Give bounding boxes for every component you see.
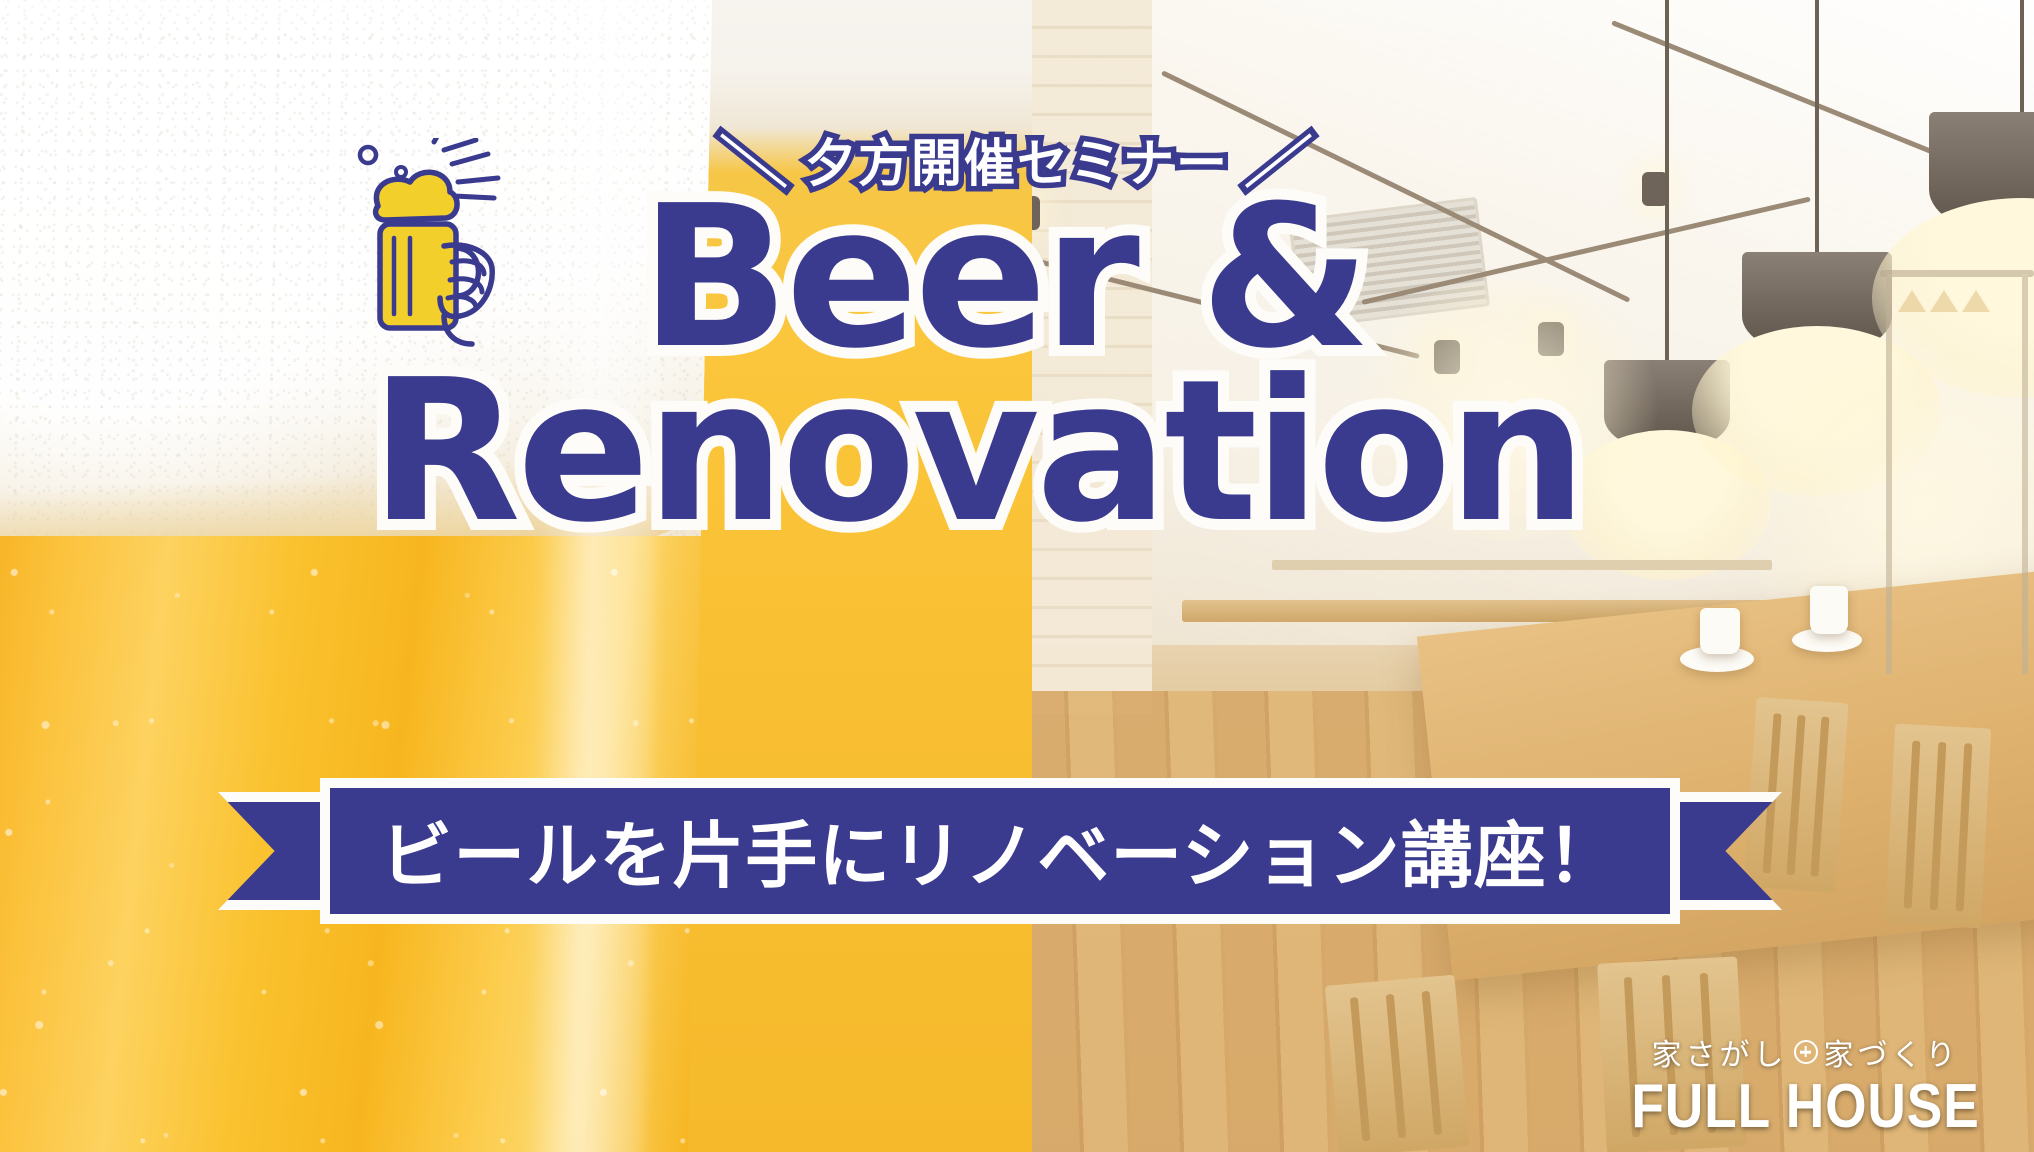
chair-slat xyxy=(1422,991,1443,1136)
spotlight xyxy=(1032,196,1040,230)
renovated-interior-photo xyxy=(1032,0,2034,1152)
chair-slat xyxy=(1810,717,1829,877)
coffee-cup xyxy=(1810,586,1848,634)
logo-brand: FULL HOUSE xyxy=(1631,1076,1979,1138)
lamp-cord xyxy=(1815,0,1819,270)
lamp-cord xyxy=(1665,0,1669,380)
ribbon-text: ビールを片手にリノベーション講座！ xyxy=(380,797,1620,902)
glass-highlight xyxy=(524,0,668,1152)
full-house-logo: 家さがし 家づくり FULL HOUSE xyxy=(1603,1030,2008,1138)
dining-chair xyxy=(1325,975,1469,1152)
clothes-rack-icon xyxy=(1872,260,2034,680)
ribbon-body: ビールを片手にリノベーション講座！ xyxy=(320,778,1680,924)
seminar-banner: ＼ 夕方開催セミナー ／ Beer & Renovation ビールを片手にリノ… xyxy=(0,0,2034,1152)
logo-tagline: 家さがし 家づくり xyxy=(1603,1030,2008,1074)
chair-slat xyxy=(1930,742,1947,910)
coffee-cup xyxy=(1700,608,1740,654)
plank-wall xyxy=(1032,0,1152,714)
wall-shelf xyxy=(1272,560,1772,570)
chair-slat xyxy=(1904,741,1921,909)
light-pool xyxy=(1342,280,1672,540)
logo-tagline-part2: 家づくり xyxy=(1824,1030,1960,1074)
logo-tagline-part1: 家さがし xyxy=(1652,1030,1788,1074)
lamp-cord xyxy=(2020,0,2024,130)
plus-circle-icon xyxy=(1794,1040,1818,1064)
subtitle-ribbon: ビールを片手にリノベーション講座！ xyxy=(240,778,1760,924)
chair-slat xyxy=(1956,743,1973,911)
glass-rim xyxy=(0,0,713,32)
chair-slat xyxy=(1786,715,1805,875)
chair-slat xyxy=(1350,997,1371,1142)
chair-slat xyxy=(1386,994,1407,1139)
hand-holding-beer-mug-icon xyxy=(348,138,528,353)
dining-chair xyxy=(1885,724,1991,929)
